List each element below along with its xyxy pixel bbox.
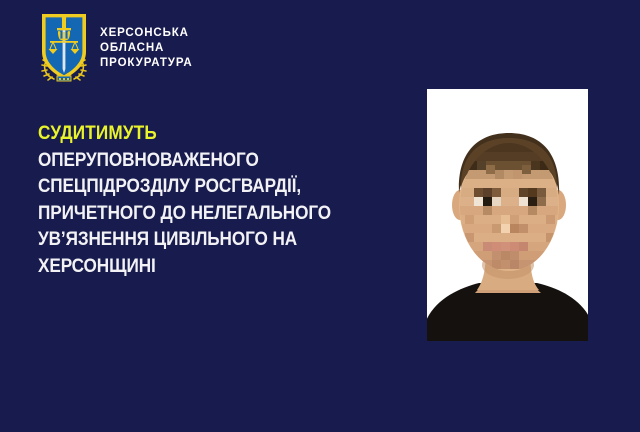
headline-line-6: ХЕРСОНЩИНІ — [38, 253, 328, 280]
headline-line-1: СУДИТИМУТЬ — [38, 120, 328, 147]
headline-line-3: СПЕЦПІДРОЗДІЛУ РОСГВАРДІЇ, — [38, 173, 328, 200]
org-line-3: ПРОКУРАТУРА — [100, 58, 193, 70]
poster-canvas: ХЕРСОНСЬКА ОБЛАСНА ПРОКУРАТУРА СУДИТИМУТ… — [0, 0, 640, 432]
headline-block: СУДИТИМУТЬ ОПЕРУПОВНОВАЖЕНОГО СПЕЦПІДРОЗ… — [38, 120, 368, 280]
org-line-2: ОБЛАСНА — [100, 43, 193, 55]
prosecutor-office-coat-of-arms-icon — [38, 8, 90, 84]
organization-name: ХЕРСОНСЬКА ОБЛАСНА ПРОКУРАТУРА — [100, 22, 193, 69]
suspect-portrait-pixelated — [427, 89, 588, 341]
headline-line-2: ОПЕРУПОВНОВАЖЕНОГО — [38, 147, 328, 174]
org-line-1: ХЕРСОНСЬКА — [100, 28, 193, 40]
headline-line-4: ПРИЧЕТНОГО ДО НЕЛЕГАЛЬНОГО — [38, 200, 328, 227]
brand-header: ХЕРСОНСЬКА ОБЛАСНА ПРОКУРАТУРА — [38, 8, 193, 84]
headline-line-5: УВ’ЯЗНЕННЯ ЦИВІЛЬНОГО НА — [38, 226, 328, 253]
